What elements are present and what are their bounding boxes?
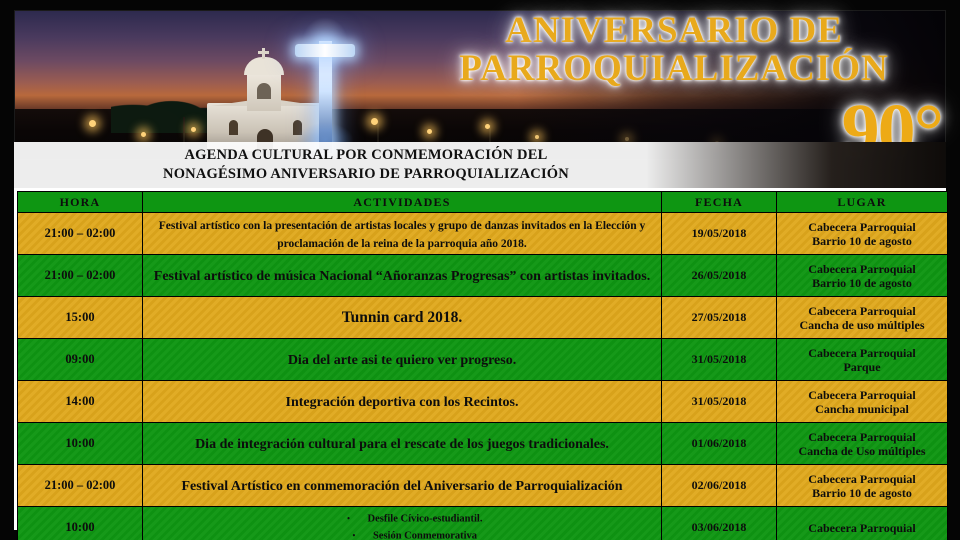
column-header-hora: HORA	[18, 192, 142, 212]
cell-fecha: 19/05/2018	[662, 213, 776, 254]
table-header: HORA ACTIVIDADES FECHA LUGAR	[18, 192, 947, 212]
table-body: 21:00 – 02:00Festival artístico con la p…	[18, 213, 947, 540]
cell-hora: 10:00	[18, 507, 142, 540]
banner-headline: ANIVERSARIO DE PARROQUIALIZACIÓN	[404, 12, 944, 87]
lugar-line-2: Cancha de Uso múltiples	[798, 444, 925, 458]
cell-fecha: 03/06/2018	[662, 507, 776, 540]
activity-text: Festival Artístico en conmemoración del …	[181, 479, 622, 494]
street-lamp-icon	[485, 124, 490, 129]
activity-text: Tunnin card 2018.	[342, 309, 462, 326]
cell-fecha: 27/05/2018	[662, 297, 776, 338]
cell-hora: 15:00	[18, 297, 142, 338]
lugar-line-1: Cabecera Parroquial	[808, 346, 915, 360]
cell-lugar: Cabecera ParroquialBarrio 10 de agosto	[777, 255, 947, 296]
page-title: AGENDA CULTURAL POR CONMEMORACIÓN DEL NO…	[86, 146, 646, 184]
cell-actividad: Tunnin card 2018.	[143, 297, 661, 338]
headline-line-1: ANIVERSARIO DE	[404, 12, 944, 49]
activity-text: Integración deportiva con los Recintos.	[286, 395, 519, 410]
cell-lugar: Cabecera ParroquialBarrio 10 de agosto	[777, 465, 947, 506]
lugar-line-1: Cabecera Parroquial	[808, 388, 915, 402]
lugar-line-1: Cabecera Parroquial	[808, 220, 915, 234]
cell-hora: 14:00	[18, 381, 142, 422]
activity-bullet-item: Desfile Cívico-estudiantil.	[147, 511, 657, 527]
trees-silhouette	[111, 89, 221, 133]
cell-actividad: Festival artístico con la presentación d…	[143, 213, 661, 254]
cell-hora: 21:00 – 02:00	[18, 213, 142, 254]
table-row: 21:00 – 02:00Festival artístico con la p…	[18, 213, 947, 254]
page-title-line-2: NONAGÉSIMO ANIVERSARIO DE PARROQUIALIZAC…	[163, 166, 569, 182]
title-band: AGENDA CULTURAL POR CONMEMORACIÓN DEL NO…	[14, 142, 946, 190]
street-lamp-icon	[141, 132, 146, 137]
table-row: 09:00Dia del arte asi te quiero ver prog…	[18, 339, 947, 380]
street-lamp-icon	[191, 127, 196, 132]
activity-text: Festival artístico con la presentación d…	[159, 220, 646, 250]
lugar-line-1: Cabecera Parroquial	[808, 262, 915, 276]
cell-hora: 21:00 – 02:00	[18, 255, 142, 296]
activity-text: Dia de integración cultural para el resc…	[195, 437, 609, 452]
cell-lugar: Cabecera ParroquialParque	[777, 339, 947, 380]
cell-actividad: Festival Artístico en conmemoración del …	[143, 465, 661, 506]
cell-lugar: Cabecera ParroquialCancha de uso múltipl…	[777, 297, 947, 338]
activity-bullet-item: Sesión Conmemorativa	[147, 528, 657, 540]
table-row: 14:00Integración deportiva con los Recin…	[18, 381, 947, 422]
street-lamp-icon	[427, 129, 432, 134]
lugar-line-2: Barrio 10 de agosto	[812, 234, 912, 248]
activity-text: Festival artístico de música Nacional “A…	[154, 269, 650, 284]
title-band-fade	[646, 142, 946, 190]
headline-line-2: PARROQUIALIZACIÓN	[404, 50, 944, 87]
agenda-table-container: HORA ACTIVIDADES FECHA LUGAR 21:00 – 02:…	[14, 188, 946, 530]
illuminated-cross-icon	[293, 13, 357, 153]
lugar-line-1: Cabecera Parroquial	[808, 521, 915, 535]
street-lamp-icon	[371, 118, 378, 125]
lugar-line-1: Cabecera Parroquial	[808, 472, 915, 486]
table-row: 10:00Dia de integración cultural para el…	[18, 423, 947, 464]
column-header-fecha: FECHA	[662, 192, 776, 212]
cell-actividad: Desfile Cívico-estudiantil.Sesión Conmem…	[143, 507, 661, 540]
lugar-line-1: Cabecera Parroquial	[808, 430, 915, 444]
lugar-line-1: Cabecera Parroquial	[808, 304, 915, 318]
cell-lugar: Cabecera ParroquialCancha municipal	[777, 381, 947, 422]
table-row: 15:00Tunnin card 2018.27/05/2018Cabecera…	[18, 297, 947, 338]
lugar-line-2: Barrio 10 de agosto	[812, 276, 912, 290]
lugar-line-2: Barrio 10 de agosto	[812, 486, 912, 500]
table-row: 21:00 – 02:00Festival Artístico en conme…	[18, 465, 947, 506]
cell-fecha: 01/06/2018	[662, 423, 776, 464]
cell-actividad: Integración deportiva con los Recintos.	[143, 381, 661, 422]
cell-hora: 21:00 – 02:00	[18, 465, 142, 506]
poster-root: ANIVERSARIO DE PARROQUIALIZACIÓN 90° AGE…	[0, 0, 960, 540]
cell-actividad: Dia del arte asi te quiero ver progreso.	[143, 339, 661, 380]
cell-hora: 10:00	[18, 423, 142, 464]
cell-actividad: Festival artístico de música Nacional “A…	[143, 255, 661, 296]
cell-lugar: Cabecera ParroquialBarrio 10 de agosto	[777, 213, 947, 254]
cell-fecha: 31/05/2018	[662, 381, 776, 422]
column-header-actividades: ACTIVIDADES	[143, 192, 661, 212]
table-header-row: HORA ACTIVIDADES FECHA LUGAR	[18, 192, 947, 212]
cell-fecha: 26/05/2018	[662, 255, 776, 296]
table-row: 10:00Desfile Cívico-estudiantil.Sesión C…	[18, 507, 947, 540]
lugar-line-2: Cancha municipal	[815, 402, 909, 416]
column-header-lugar: LUGAR	[777, 192, 947, 212]
page-title-line-1: AGENDA CULTURAL POR CONMEMORACIÓN DEL	[185, 147, 548, 163]
street-lamp-icon	[89, 120, 96, 127]
cell-fecha: 31/05/2018	[662, 339, 776, 380]
agenda-table: HORA ACTIVIDADES FECHA LUGAR 21:00 – 02:…	[17, 191, 948, 540]
cell-hora: 09:00	[18, 339, 142, 380]
cell-lugar: Cabecera Parroquial	[777, 507, 947, 540]
cell-fecha: 02/06/2018	[662, 465, 776, 506]
cell-lugar: Cabecera ParroquialCancha de Uso múltipl…	[777, 423, 947, 464]
table-row: 21:00 – 02:00Festival artístico de músic…	[18, 255, 947, 296]
activity-text: Dia del arte asi te quiero ver progreso.	[288, 353, 516, 368]
lugar-line-2: Cancha de uso múltiples	[799, 318, 924, 332]
cell-actividad: Dia de integración cultural para el resc…	[143, 423, 661, 464]
lugar-line-2: Parque	[843, 360, 880, 374]
activity-bullet-list: Desfile Cívico-estudiantil.Sesión Conmem…	[147, 511, 657, 540]
